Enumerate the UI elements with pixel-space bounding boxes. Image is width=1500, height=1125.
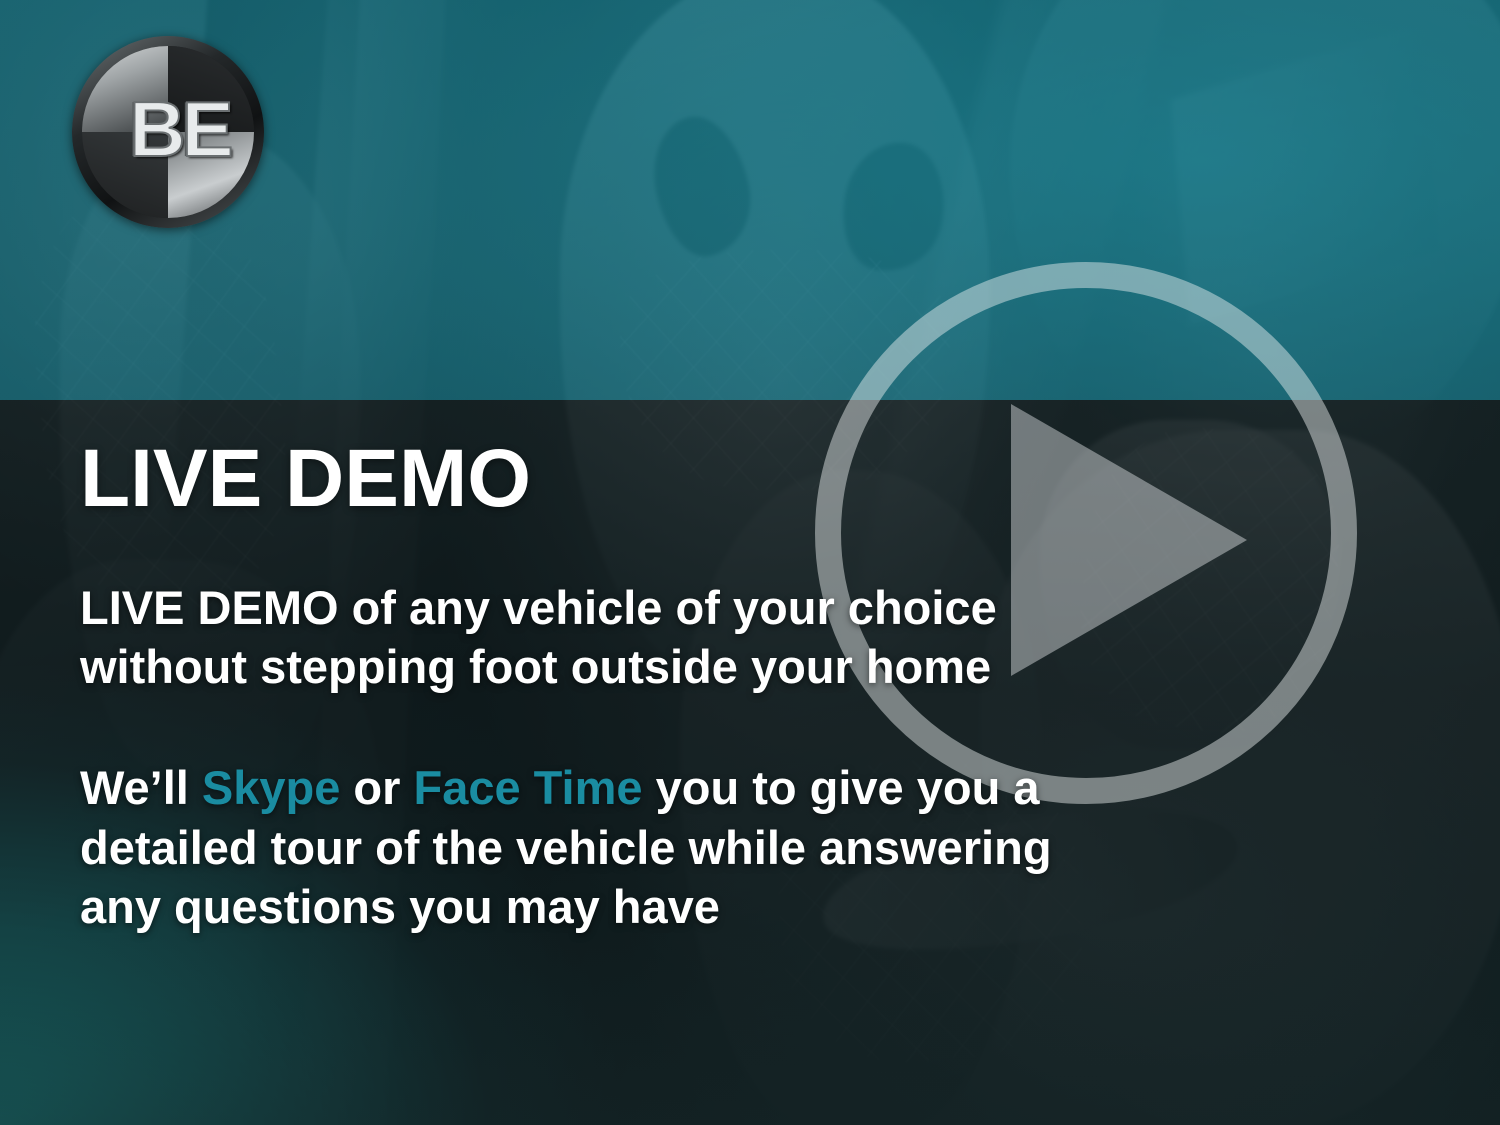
logo-wordmark: BE xyxy=(129,90,229,168)
page-title: LIVE DEMO xyxy=(80,438,1160,520)
paragraph-one-line-2: without stepping foot outside your home xyxy=(80,640,991,693)
service-name-skype: Skype xyxy=(202,761,340,814)
bottom-fade xyxy=(0,930,1500,1125)
paragraph-two: We’ll Skype or Face Time you to give you… xyxy=(80,758,1080,936)
logo-roundel-inner: BE xyxy=(82,46,254,218)
banner-text-block: LIVE DEMO LIVE DEMO of any vehicle of yo… xyxy=(80,438,1160,936)
live-demo-banner: BE LIVE DEMO LIVE DEMO of any vehicle of… xyxy=(0,0,1500,1125)
service-name-facetime: Face Time xyxy=(414,761,643,814)
paragraph-one-line-1: LIVE DEMO of any vehicle of your choice xyxy=(80,581,997,634)
paragraph-one: LIVE DEMO of any vehicle of your choice … xyxy=(80,578,1080,696)
paragraph-two-prefix: We’ll xyxy=(80,761,202,814)
paragraph-two-conjunction: or xyxy=(340,761,413,814)
be-roundel-logo[interactable]: BE xyxy=(72,36,264,228)
